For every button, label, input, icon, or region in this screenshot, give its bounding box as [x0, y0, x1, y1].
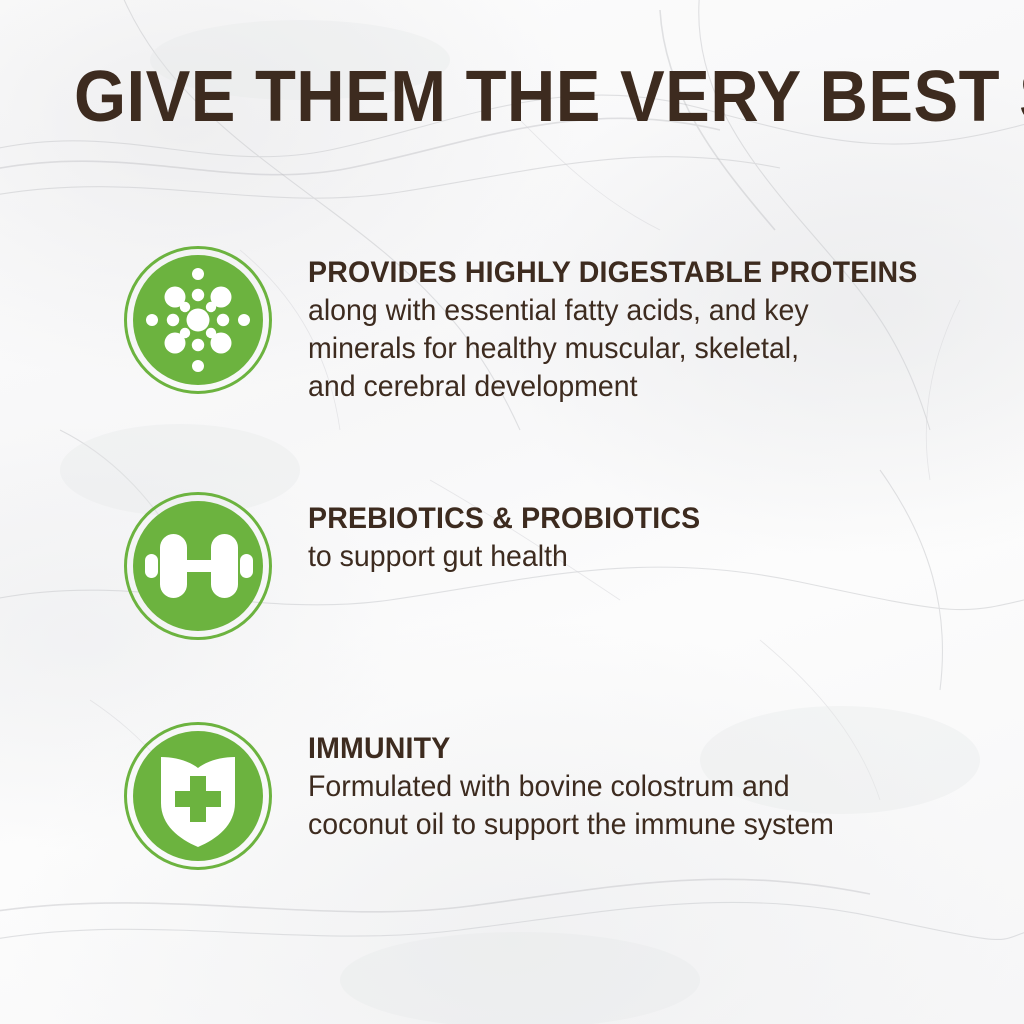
feature-text-block: PREBIOTICS & PROBIOTICS to support gut h… — [308, 492, 721, 576]
feature-body: Formulated with bovine colostrum and coc… — [308, 768, 834, 844]
shield-plus-icon — [124, 722, 272, 870]
page-title: GIVE THEM THE VERY BEST START — [74, 58, 911, 136]
feature-heading: PROVIDES HIGHLY DIGESTABLE PROTEINS — [308, 254, 917, 292]
shield-plus-glyph — [133, 731, 263, 861]
feature-row-proteins: PROVIDES HIGHLY DIGESTABLE PROTEINS alon… — [124, 246, 950, 406]
feature-text-block: PROVIDES HIGHLY DIGESTABLE PROTEINS alon… — [308, 246, 950, 406]
feature-heading: PREBIOTICS & PROBIOTICS — [308, 500, 700, 538]
feature-row-probiotics: PREBIOTICS & PROBIOTICS to support gut h… — [124, 492, 721, 640]
dumbbell-glyph — [133, 501, 263, 631]
dumbbell-icon — [124, 492, 272, 640]
feature-body: to support gut health — [308, 538, 700, 576]
feature-row-immunity: IMMUNITY Formulated with bovine colostru… — [124, 722, 862, 870]
feature-body: along with essential fatty acids, and ke… — [308, 292, 917, 406]
nutrient-molecule-icon — [124, 246, 272, 394]
infographic-canvas: GIVE THEM THE VERY BEST START — [0, 0, 1024, 1024]
feature-text-block: IMMUNITY Formulated with bovine colostru… — [308, 722, 862, 844]
feature-heading: IMMUNITY — [308, 730, 834, 768]
nutrient-molecule-glyph — [133, 255, 263, 385]
